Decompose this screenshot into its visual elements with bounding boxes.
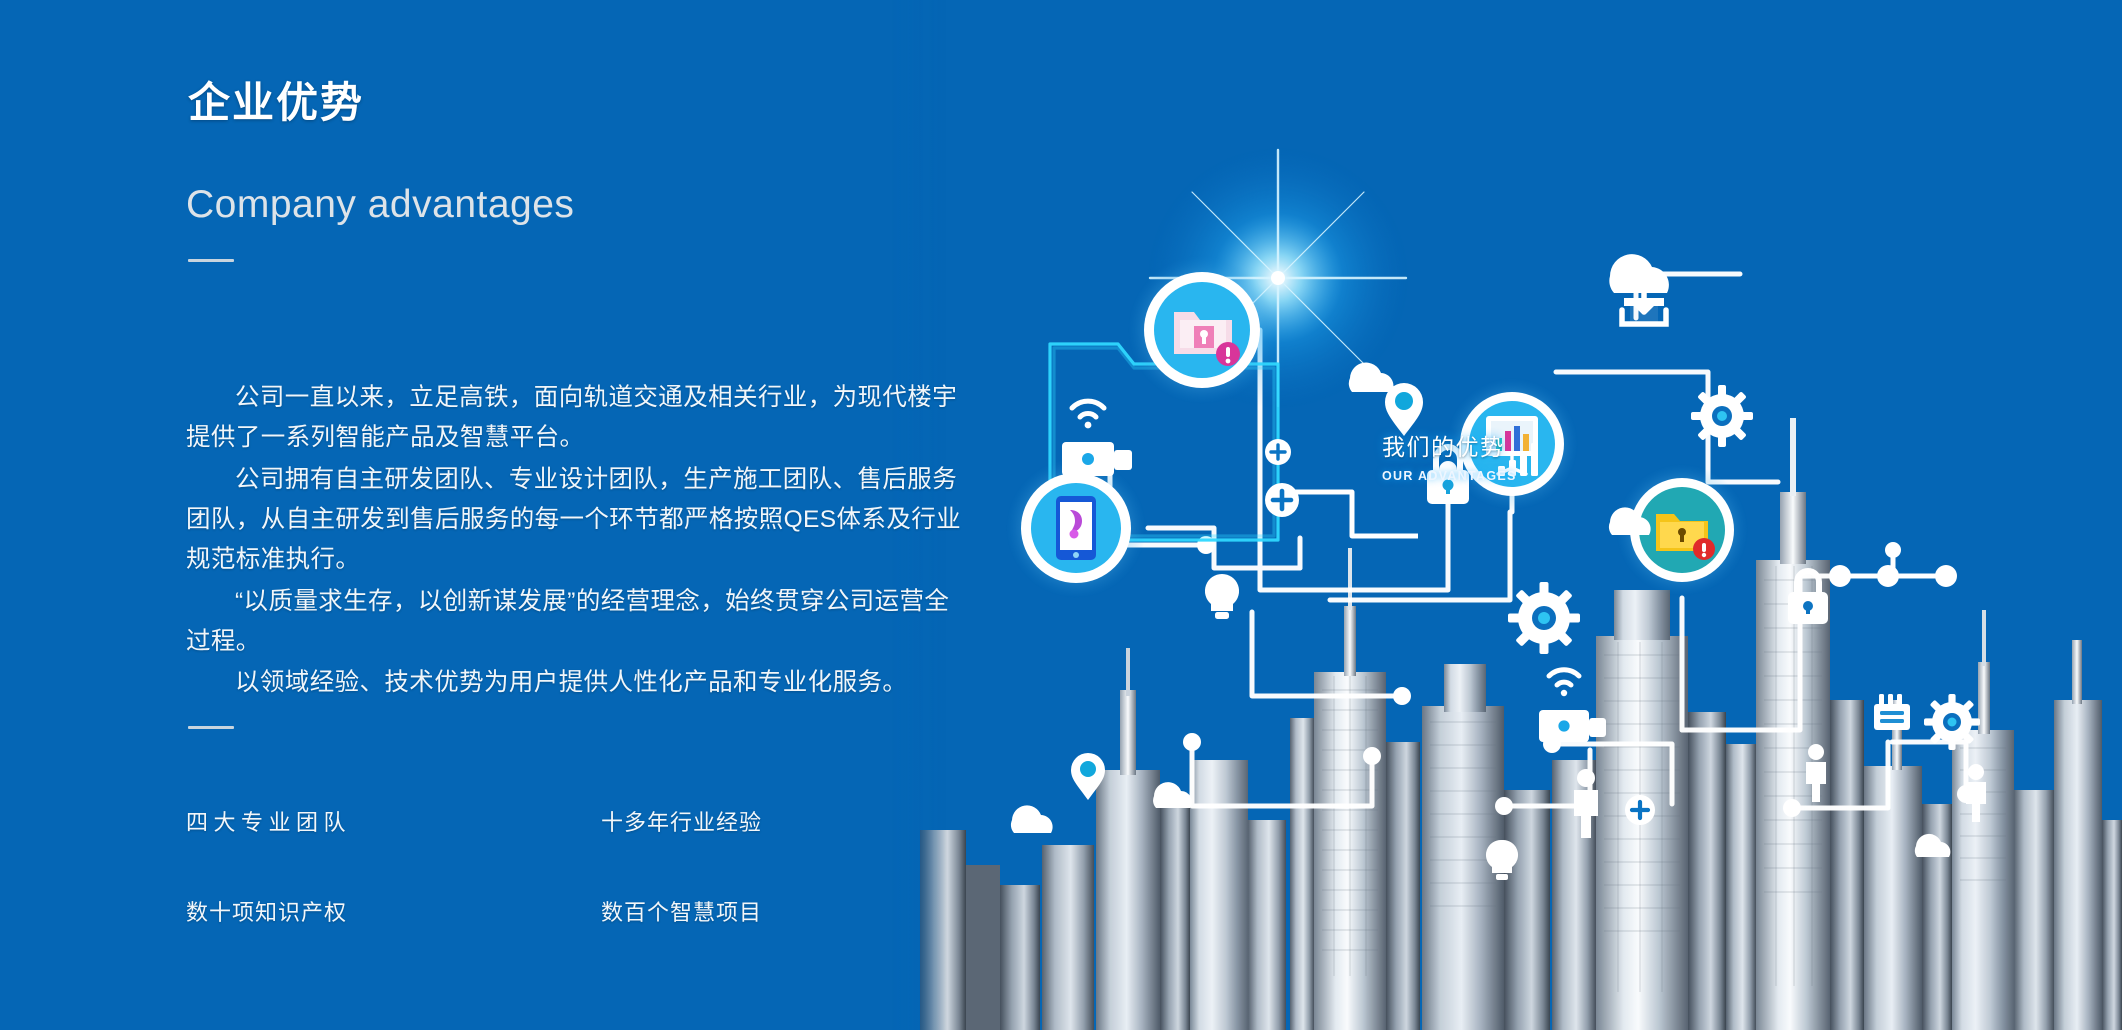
- stat-item-projects: 数百个智慧项目: [601, 895, 846, 927]
- stat-item-teams: 四大专业团队: [186, 805, 601, 837]
- folder-lock-icon: [1128, 256, 1276, 404]
- stat-item-patents: 数十项知识产权: [186, 895, 601, 927]
- lightbulb-icon: [1205, 574, 1239, 619]
- folder-plus-icon: [1265, 439, 1291, 465]
- gear-icon: [1924, 694, 1980, 750]
- plus-icon: [1625, 795, 1655, 825]
- body-paragraph: “以质量求生存，以创新谋发展”的经营理念，始终贯穿公司运营全过程。: [186, 582, 966, 662]
- gear-icon: [1691, 385, 1753, 447]
- cloud-download-icon: [1609, 254, 1669, 324]
- laptop-icon: [1539, 710, 1606, 742]
- stats-divider: [188, 726, 234, 729]
- page-title-en: Company advantages: [186, 185, 574, 224]
- page-title-cn: 企业优势: [188, 82, 364, 124]
- body-paragraph: 公司一直以来，立足高铁，面向轨道交通及相关行业，为现代楼宇提供了一系列智能产品及…: [186, 378, 966, 458]
- title-divider: [188, 259, 234, 262]
- body-paragraph: 公司拥有自主研发团队、专业设计团队，生产施工团队、售后服务团队，从自主研发到售后…: [186, 460, 966, 580]
- stat-item-experience: 十多年行业经验: [601, 805, 846, 837]
- content-column: 企业优势 Company advantages 公司一直以来，立足高铁，面向轨道…: [0, 0, 1060, 1030]
- smart-city-illustration: [892, 0, 2122, 1030]
- body-copy: 公司一直以来，立足高铁，面向轨道交通及相关行业，为现代楼宇提供了一系列智能产品及…: [186, 378, 966, 705]
- body-paragraph: 以领域经验、技术优势为用户提供人性化产品和专业化服务。: [186, 663, 966, 703]
- company-advantages-section: 我们的优势 OUR ADVANTAGES 企业优势 Company advant…: [0, 0, 2122, 1030]
- cloud-icon: [1349, 363, 1394, 392]
- stats-grid: 四大专业团队 十多年行业经验 数十项知识产权 数百个智慧项目: [186, 805, 846, 927]
- server-icon: [1874, 694, 1910, 730]
- gear-icon: [1508, 582, 1580, 654]
- plus-icon: [1265, 483, 1299, 517]
- wifi-icon: [1549, 670, 1579, 697]
